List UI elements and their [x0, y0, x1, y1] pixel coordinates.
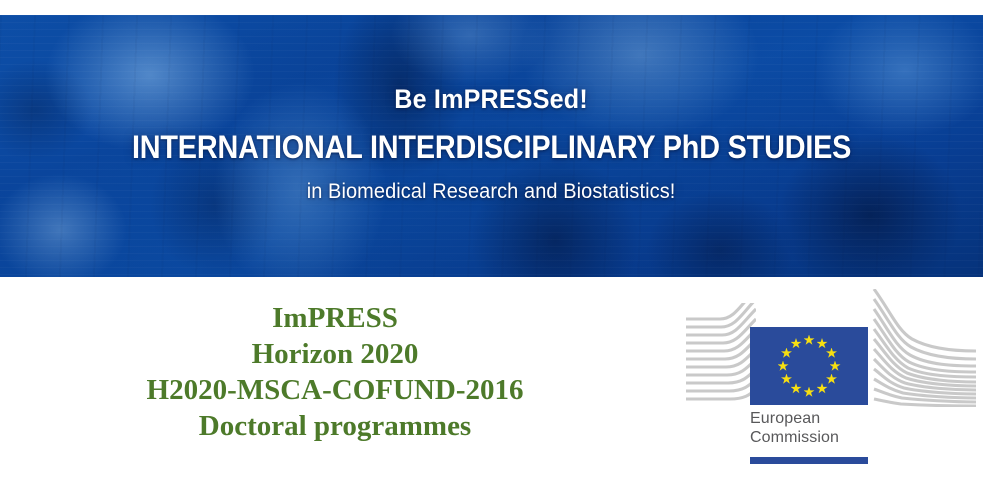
eu-star-icon	[804, 387, 815, 398]
project-line-name: ImPRESS	[0, 300, 670, 336]
eu-stars-circle	[750, 327, 868, 405]
eu-caption-line-1: European	[750, 409, 920, 428]
project-info-block: ImPRESS Horizon 2020 H2020-MSCA-COFUND-2…	[0, 300, 670, 444]
eu-star-icon	[826, 374, 837, 385]
eu-star-icon	[817, 338, 828, 349]
eu-star-icon	[826, 348, 837, 359]
eu-flag-icon	[750, 327, 868, 405]
project-line-call-id: H2020-MSCA-COFUND-2016	[0, 372, 670, 408]
eu-star-icon	[830, 361, 841, 372]
eu-star-icon	[791, 383, 802, 394]
lower-section: ImPRESS Horizon 2020 H2020-MSCA-COFUND-2…	[0, 277, 983, 492]
eu-star-icon	[781, 348, 792, 359]
eu-star-icon	[791, 338, 802, 349]
eu-star-icon	[778, 361, 789, 372]
hero-text-block: Be ImPRESSed! INTERNATIONAL INTERDISCIPL…	[0, 15, 983, 277]
eu-swoosh-left-icon	[686, 303, 756, 407]
hero-title: INTERNATIONAL INTERDISCIPLINARY PhD STUD…	[132, 131, 851, 163]
eu-star-icon	[817, 383, 828, 394]
european-commission-logo: European Commission	[686, 289, 976, 484]
project-line-action-type: Doctoral programmes	[0, 408, 670, 444]
project-line-programme: Horizon 2020	[0, 336, 670, 372]
eu-star-icon	[804, 335, 815, 346]
eu-logo-underline	[750, 457, 868, 464]
hero-banner: Be ImPRESSed! INTERNATIONAL INTERDISCIPL…	[0, 15, 983, 277]
eu-caption-line-2: Commission	[750, 428, 920, 447]
poster-root: Be ImPRESSed! INTERNATIONAL INTERDISCIPL…	[0, 0, 983, 492]
eu-star-icon	[781, 374, 792, 385]
hero-subtitle: in Biomedical Research and Biostatistics…	[307, 181, 676, 202]
eu-logo-caption: European Commission	[750, 409, 920, 447]
hero-kicker: Be ImPRESSed!	[395, 86, 589, 113]
eu-swoosh-right-icon	[868, 289, 976, 407]
